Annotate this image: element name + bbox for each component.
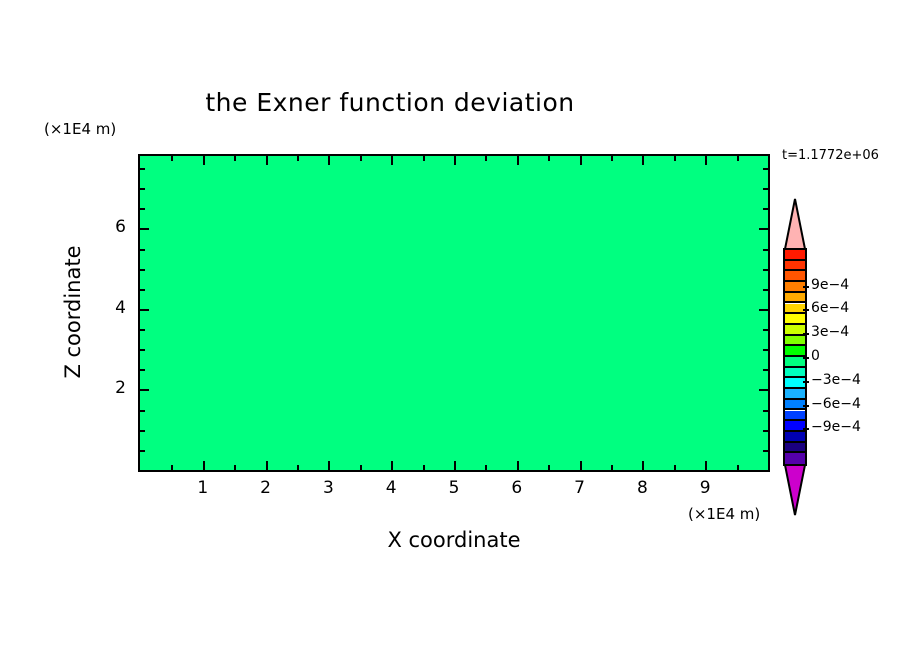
x-tick — [454, 461, 456, 470]
y-tick — [140, 410, 145, 412]
x-tick-label: 6 — [497, 478, 537, 498]
x-tick-top — [328, 156, 330, 165]
y-tick — [140, 228, 149, 230]
y-tick-right — [763, 410, 768, 412]
colorbar-tick-label: 3e−4 — [811, 324, 849, 340]
colorbar-band — [785, 346, 805, 357]
y-tick-right — [759, 309, 768, 311]
y-tick-right — [763, 369, 768, 371]
x-tick — [171, 465, 173, 470]
colorbar-band — [785, 250, 805, 261]
colorbar-tick — [803, 405, 809, 407]
y-tick — [140, 430, 145, 432]
y-axis-unit-label: (×1E4 m) — [44, 120, 116, 138]
y-tick-label: 6 — [86, 217, 126, 237]
x-tick — [548, 465, 550, 470]
x-tick-top — [737, 156, 739, 161]
y-tick-right — [763, 208, 768, 210]
x-tick — [674, 465, 676, 470]
colorbar-tick-label: −6e−4 — [811, 396, 861, 412]
colorbar-band — [785, 400, 805, 411]
x-tick-top — [360, 156, 362, 161]
y-tick-right — [759, 389, 768, 391]
page-title: the Exner function deviation — [0, 88, 780, 117]
x-tick-top — [705, 156, 707, 165]
y-tick — [140, 168, 145, 170]
y-axis-title: Z coordinate — [61, 222, 85, 402]
y-tick-right — [759, 228, 768, 230]
x-tick — [611, 465, 613, 470]
x-tick-label: 7 — [560, 478, 600, 498]
x-tick — [203, 461, 205, 470]
colorbar-over-arrow-icon — [783, 198, 807, 250]
figure-canvas: the Exner function deviation (×1E4 m) (×… — [0, 0, 904, 654]
colorbar-band — [785, 368, 805, 379]
x-tick-top — [454, 156, 456, 165]
y-tick — [140, 349, 145, 351]
x-tick-top — [266, 156, 268, 165]
x-tick — [234, 465, 236, 470]
colorbar-band — [785, 389, 805, 400]
colorbar-tick-label: 0 — [811, 348, 820, 364]
x-tick-label: 3 — [308, 478, 348, 498]
y-tick-right — [763, 349, 768, 351]
y-tick-right — [763, 329, 768, 331]
x-tick — [360, 465, 362, 470]
y-tick-right — [763, 430, 768, 432]
colorbar-tick — [803, 286, 809, 288]
x-tick-top — [423, 156, 425, 161]
x-tick — [705, 461, 707, 470]
colorbar-under-arrow-icon — [783, 464, 807, 516]
y-tick — [140, 329, 145, 331]
contour-plot-area — [138, 154, 770, 472]
colorbar-tick — [803, 333, 809, 335]
colorbar-band — [785, 443, 805, 454]
y-tick-right — [763, 269, 768, 271]
colorbar-tick-label: −9e−4 — [811, 419, 861, 435]
x-tick-label: 4 — [371, 478, 411, 498]
colorbar-band — [785, 453, 805, 464]
y-tick-right — [763, 450, 768, 452]
colorbar-tick — [803, 428, 809, 430]
x-tick — [423, 465, 425, 470]
colorbar-band — [785, 421, 805, 432]
x-tick-label: 2 — [246, 478, 286, 498]
colorbar-band — [785, 378, 805, 389]
y-tick-right — [763, 289, 768, 291]
x-tick-label: 1 — [183, 478, 223, 498]
y-tick — [140, 369, 145, 371]
x-tick-top — [203, 156, 205, 165]
colorbar-tick-label: −3e−4 — [811, 372, 861, 388]
y-tick — [140, 289, 145, 291]
x-tick — [485, 465, 487, 470]
x-tick-top — [611, 156, 613, 161]
x-tick-top — [297, 156, 299, 161]
time-annotation: t=1.1772e+06 — [782, 148, 879, 163]
x-tick-top — [391, 156, 393, 165]
y-tick — [140, 269, 145, 271]
y-tick — [140, 208, 145, 210]
x-tick-top — [171, 156, 173, 161]
colorbar-band — [785, 271, 805, 282]
x-tick-top — [234, 156, 236, 161]
x-tick-top — [485, 156, 487, 161]
x-tick — [328, 461, 330, 470]
colorbar-band — [785, 282, 805, 293]
x-tick-label: 9 — [685, 478, 725, 498]
colorbar-tick — [803, 309, 809, 311]
x-tick — [391, 461, 393, 470]
x-tick — [737, 465, 739, 470]
x-tick-top — [548, 156, 550, 161]
y-tick — [140, 389, 149, 391]
x-axis-title: X coordinate — [138, 528, 770, 552]
x-tick-label: 8 — [622, 478, 662, 498]
colorbar-band — [785, 432, 805, 443]
colorbar-tick — [803, 381, 809, 383]
x-tick-label: 5 — [434, 478, 474, 498]
colorbar-band — [785, 293, 805, 304]
colorbar: 9e−46e−43e−40−3e−4−6e−4−9e−4 — [783, 198, 807, 516]
colorbar-band — [785, 357, 805, 368]
x-tick — [580, 461, 582, 470]
y-tick-right — [763, 249, 768, 251]
x-tick — [517, 461, 519, 470]
colorbar-band — [785, 336, 805, 347]
colorbar-band — [785, 261, 805, 272]
y-tick-right — [763, 188, 768, 190]
colorbar-band — [785, 325, 805, 336]
colorbar-tick-label: 6e−4 — [811, 300, 849, 316]
x-tick — [297, 465, 299, 470]
colorbar-tick-label: 9e−4 — [811, 277, 849, 293]
x-tick — [642, 461, 644, 470]
x-tick-top — [517, 156, 519, 165]
colorbar-tick — [803, 357, 809, 359]
y-tick-label: 2 — [86, 378, 126, 398]
x-tick-top — [642, 156, 644, 165]
y-tick — [140, 188, 145, 190]
x-tick — [266, 461, 268, 470]
y-tick-right — [763, 168, 768, 170]
x-axis-unit-label: (×1E4 m) — [688, 505, 760, 523]
y-tick-label: 4 — [86, 298, 126, 318]
y-tick — [140, 249, 145, 251]
colorbar-band — [785, 411, 805, 422]
colorbar-band — [785, 304, 805, 315]
x-tick-top — [674, 156, 676, 161]
contour-field — [140, 156, 768, 470]
colorbar-band — [785, 314, 805, 325]
x-tick-top — [580, 156, 582, 165]
y-tick — [140, 309, 149, 311]
y-tick — [140, 450, 145, 452]
